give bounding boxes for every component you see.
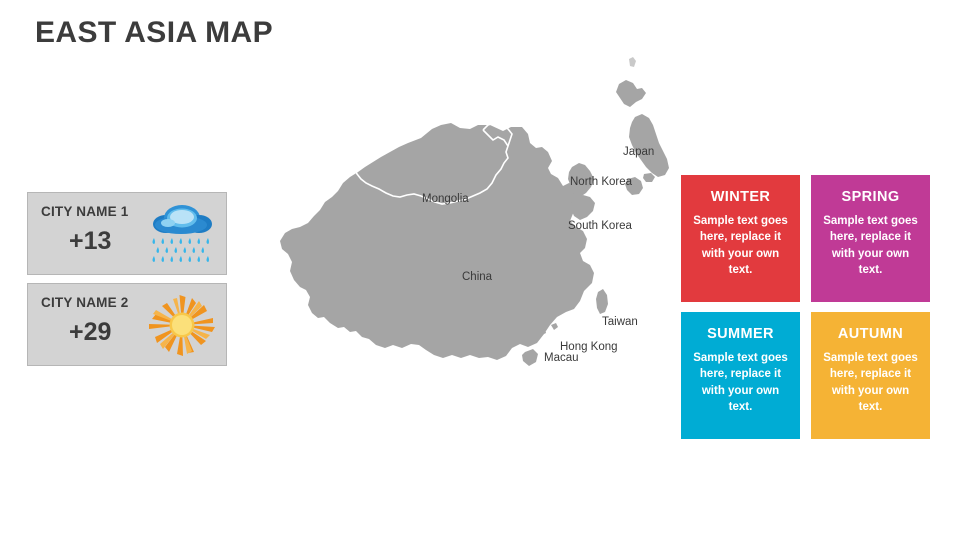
season-title: AUTUMN — [819, 326, 922, 342]
map-label-japan: Japan — [623, 146, 654, 158]
season-description: Sample text goes here, replace it with y… — [819, 350, 922, 415]
taiwan — [596, 289, 608, 314]
page-title: EAST ASIA MAP — [35, 16, 273, 50]
season-card-autumn[interactable]: AUTUMN Sample text goes here, replace it… — [811, 312, 930, 439]
city-temperature-value: +29 — [69, 318, 111, 347]
city-card-2[interactable]: CITY NAME 2 +29 — [27, 283, 227, 366]
city-name-label: CITY NAME 1 — [41, 204, 128, 219]
seasons-grid: WINTER Sample text goes here, replace it… — [681, 175, 930, 439]
map-label-taiwan: Taiwan — [602, 316, 638, 328]
city-card-1[interactable]: CITY NAME 1 +13 — [27, 192, 227, 275]
hong-kong-marker — [551, 323, 558, 330]
city-cards-panel: CITY NAME 1 +13 — [27, 192, 229, 374]
season-card-winter[interactable]: WINTER Sample text goes here, replace it… — [681, 175, 800, 302]
china-mainland — [280, 123, 594, 360]
season-title: SPRING — [819, 189, 922, 205]
map-label-south-korea: South Korea — [568, 220, 632, 232]
season-description: Sample text goes here, replace it with y… — [819, 213, 922, 278]
season-card-spring[interactable]: SPRING Sample text goes here, replace it… — [811, 175, 930, 302]
hainan — [522, 349, 538, 366]
season-title: SUMMER — [689, 326, 792, 342]
east-asia-map: Mongolia Japan North Korea South Korea C… — [280, 55, 680, 415]
map-label-north-korea: North Korea — [570, 176, 632, 188]
season-description: Sample text goes here, replace it with y… — [689, 350, 792, 415]
map-label-china: China — [462, 271, 492, 283]
city-name-label: CITY NAME 2 — [41, 295, 128, 310]
map-label-macau: Macau — [544, 352, 579, 364]
japan-hokkaido — [616, 80, 646, 107]
rain-cloud-icon — [144, 198, 218, 270]
map-label-mongolia: Mongolia — [422, 193, 469, 205]
sun-icon — [144, 289, 218, 361]
japan-north-fragment — [629, 57, 636, 67]
map-svg — [280, 55, 680, 415]
season-title: WINTER — [689, 189, 792, 205]
city-temperature-value: +13 — [69, 227, 111, 256]
japan-shikoku — [643, 173, 655, 182]
season-description: Sample text goes here, replace it with y… — [689, 213, 792, 278]
season-card-summer[interactable]: SUMMER Sample text goes here, replace it… — [681, 312, 800, 439]
